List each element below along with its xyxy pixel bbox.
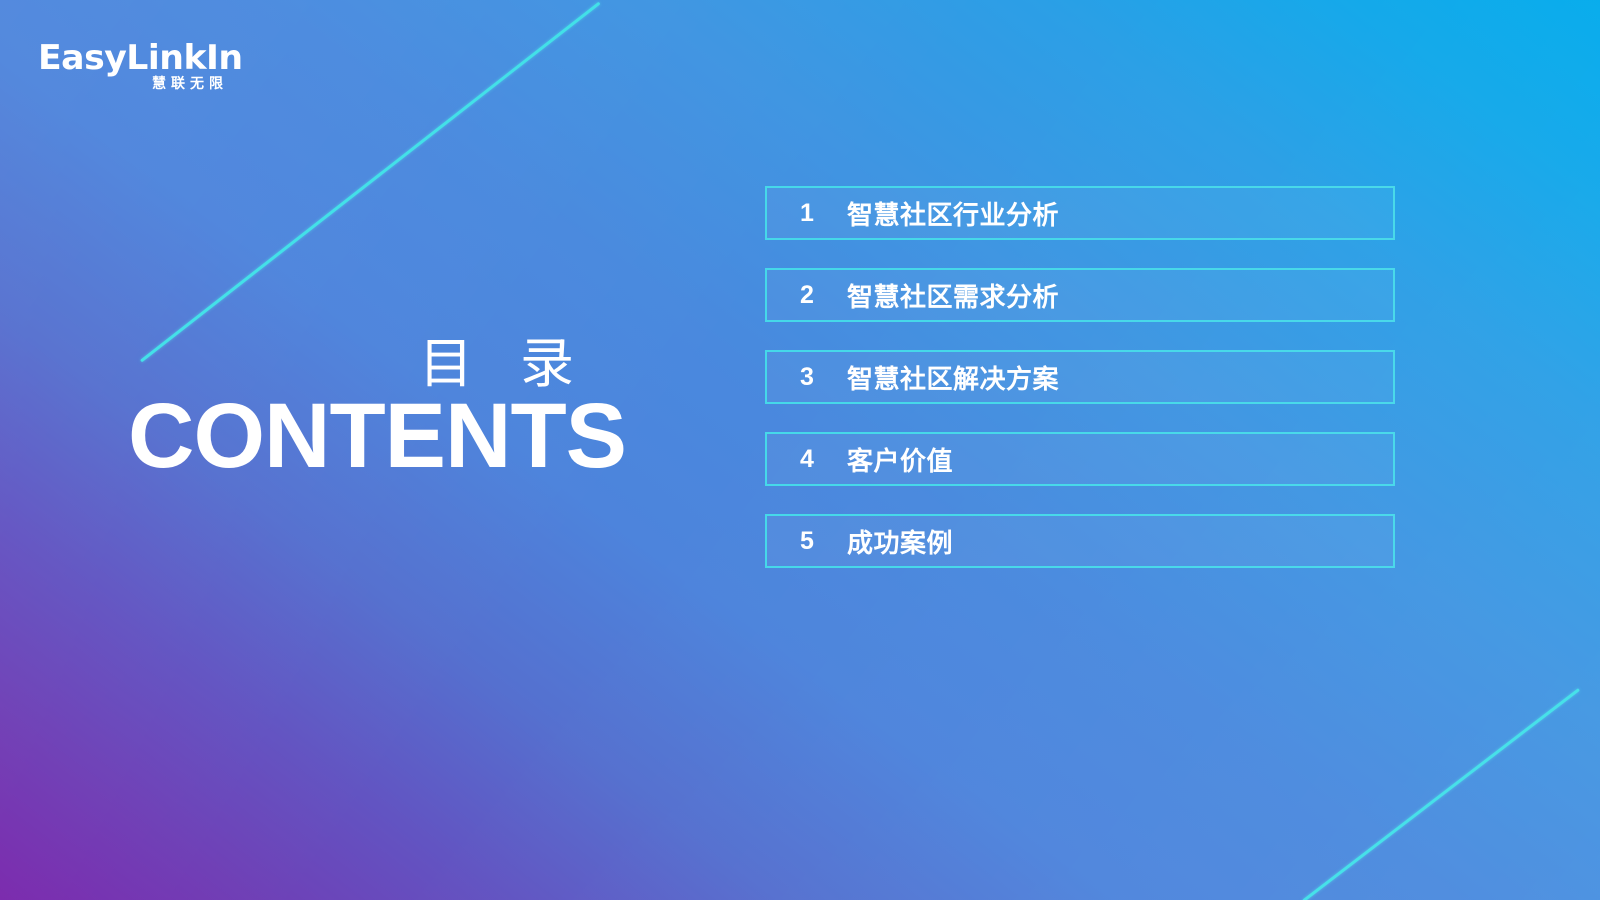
logo-wordmark: EasyLinkIn xyxy=(38,40,232,76)
contents-item-2[interactable]: 2 智慧社区需求分析 xyxy=(765,268,1395,322)
page-title-english: CONTENTS xyxy=(128,388,590,484)
contents-item-number: 5 xyxy=(781,527,833,556)
page-title-chinese: 目 录 xyxy=(128,336,590,392)
contents-item-label: 智慧社区行业分析 xyxy=(847,195,1059,232)
contents-item-label: 智慧社区需求分析 xyxy=(847,277,1059,314)
contents-list: 1 智慧社区行业分析 2 智慧社区需求分析 3 智慧社区解决方案 4 客户价值 … xyxy=(765,186,1395,568)
contents-item-5[interactable]: 5 成功案例 xyxy=(765,514,1395,568)
contents-item-number: 4 xyxy=(781,445,833,474)
company-logo: EasyLinkIn 慧联无限 xyxy=(38,40,228,92)
contents-item-number: 3 xyxy=(781,363,833,392)
contents-item-1[interactable]: 1 智慧社区行业分析 xyxy=(765,186,1395,240)
contents-item-number: 1 xyxy=(781,199,833,228)
contents-item-label: 客户价值 xyxy=(847,441,953,478)
contents-item-label: 智慧社区解决方案 xyxy=(847,359,1059,396)
contents-item-3[interactable]: 3 智慧社区解决方案 xyxy=(765,350,1395,404)
contents-item-number: 2 xyxy=(781,281,833,310)
diagonal-accent-line-bottom-right xyxy=(1302,688,1580,900)
presentation-slide: EasyLinkIn 慧联无限 目 录 CONTENTS 1 智慧社区行业分析 … xyxy=(0,0,1600,900)
contents-item-4[interactable]: 4 客户价值 xyxy=(765,432,1395,486)
contents-item-label: 成功案例 xyxy=(847,523,953,560)
page-title: 目 录 CONTENTS xyxy=(128,336,590,484)
